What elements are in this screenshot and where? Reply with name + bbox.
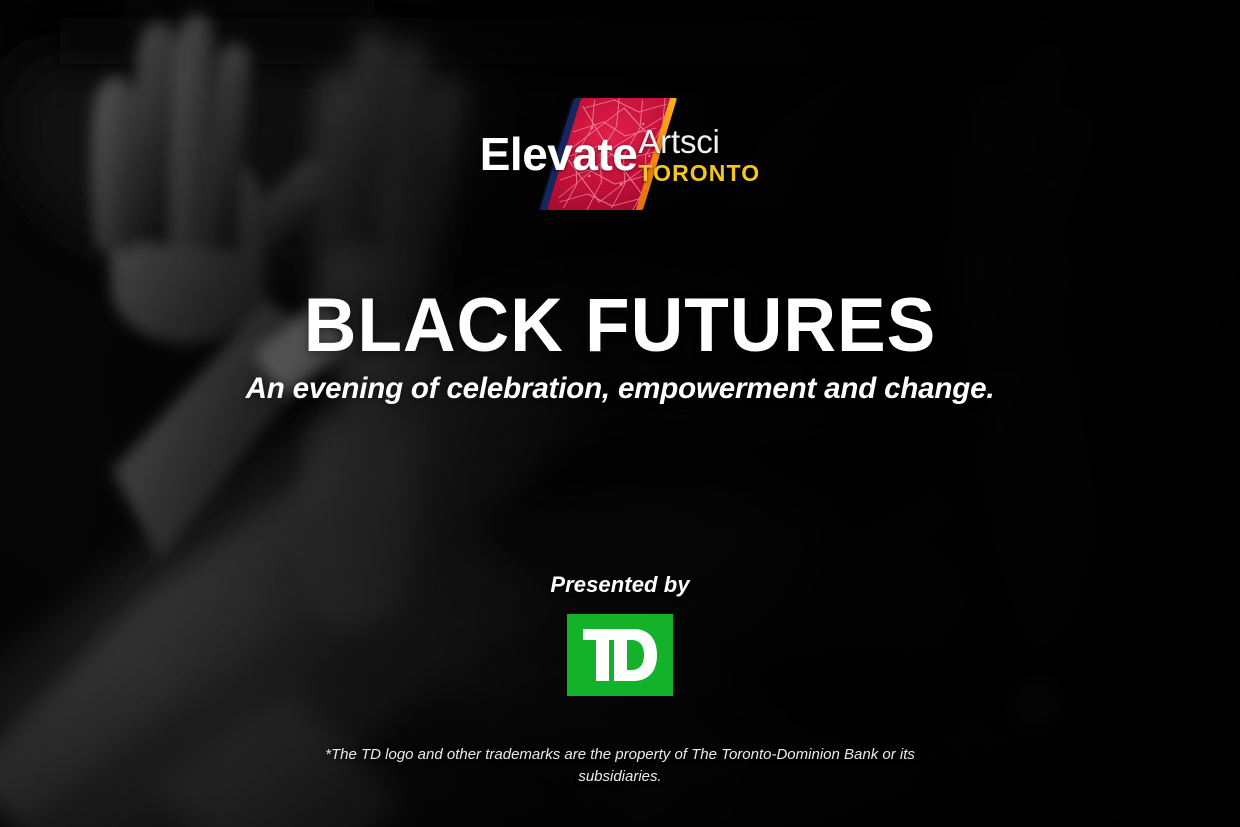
logo-right-block: Artsci TORONTO	[638, 123, 760, 185]
sponsor-logo-wrap	[0, 614, 1240, 696]
elevate-artsci-toronto-logo[interactable]: Elevate Artsci TORONTO	[0, 100, 1240, 208]
page-title: BLACK FUTURES	[25, 288, 1215, 364]
trademark-footnote: *The TD logo and other trademarks are th…	[320, 744, 920, 788]
td-bank-logo[interactable]	[567, 614, 673, 696]
page-subtitle: An evening of celebration, empowerment a…	[9, 371, 1230, 407]
presented-by-label: Presented by	[0, 572, 1240, 598]
poster-content: Elevate Artsci TORONTO BLACK FUTURES An …	[0, 0, 1240, 827]
logo-word-toronto: TORONTO	[638, 162, 760, 185]
logo-inner: Elevate Artsci TORONTO	[480, 100, 760, 208]
logo-word-artsci: Artsci	[638, 125, 760, 158]
poster-canvas: Elevate Artsci TORONTO BLACK FUTURES An …	[0, 0, 1240, 827]
logo-word-elevate: Elevate	[480, 131, 638, 177]
